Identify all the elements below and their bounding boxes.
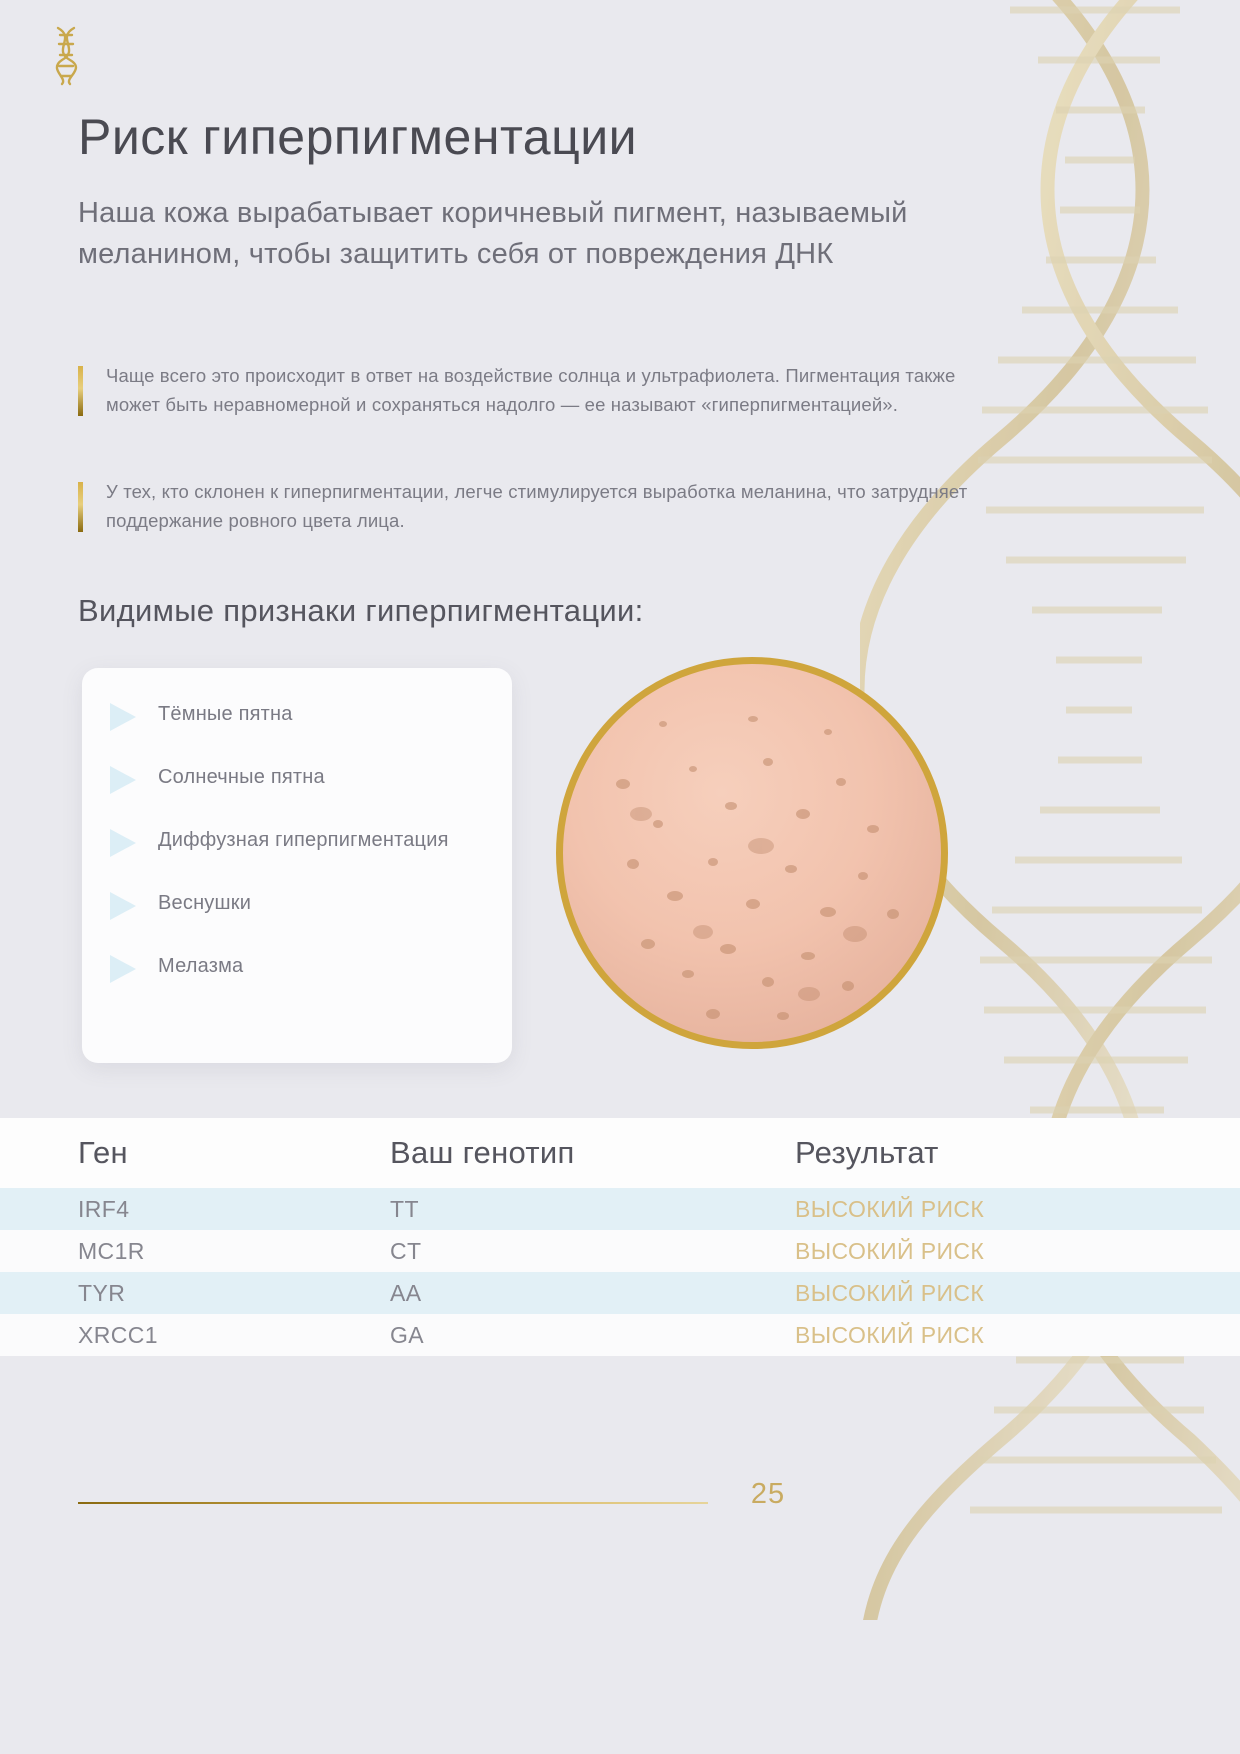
- list-item-label: Тёмные пятна: [158, 698, 293, 730]
- cell-genotype: CT: [390, 1238, 795, 1265]
- visible-signs-card: Тёмные пятна Солнечные пятна Диффузная г…: [82, 668, 512, 1063]
- cell-gene: MC1R: [78, 1238, 390, 1265]
- list-item: Солнечные пятна: [82, 761, 512, 794]
- triangle-right-icon: [110, 892, 136, 920]
- cell-gene: XRCC1: [78, 1322, 390, 1349]
- skin-closeup-photo: [556, 657, 948, 1049]
- list-item: Тёмные пятна: [82, 698, 512, 731]
- column-header-gene: Ген: [78, 1135, 390, 1171]
- page-title: Риск гиперпигментации: [78, 108, 637, 166]
- list-item-label: Веснушки: [158, 887, 251, 919]
- triangle-right-icon: [110, 703, 136, 731]
- cell-genotype: AA: [390, 1280, 795, 1307]
- cell-gene: IRF4: [78, 1196, 390, 1223]
- table-row: IRF4 TT ВЫСОКИЙ РИСК: [0, 1188, 1240, 1230]
- cell-genotype: TT: [390, 1196, 795, 1223]
- dna-helix-icon: [40, 24, 92, 86]
- column-header-genotype: Ваш генотип: [390, 1135, 795, 1171]
- callout-text: У тех, кто склонен к гиперпигментации, л…: [106, 478, 1006, 536]
- triangle-right-icon: [110, 829, 136, 857]
- table-row: XRCC1 GA ВЫСОКИЙ РИСК: [0, 1314, 1240, 1356]
- table-row: TYR AA ВЫСОКИЙ РИСК: [0, 1272, 1240, 1314]
- cell-gene: TYR: [78, 1280, 390, 1307]
- list-item: Мелазма: [82, 950, 512, 983]
- list-item: Диффузная гиперпигментация: [82, 824, 512, 857]
- callout-block: Чаще всего это происходит в ответ на воз…: [78, 362, 1006, 420]
- footer-divider: [78, 1502, 708, 1504]
- triangle-right-icon: [110, 766, 136, 794]
- page-subtitle: Наша кожа вырабатывает коричневый пигмен…: [78, 193, 978, 275]
- page-number: 25: [728, 1478, 808, 1511]
- list-item-label: Диффузная гиперпигментация: [158, 824, 449, 856]
- report-page: Риск гиперпигментации Наша кожа вырабаты…: [0, 0, 1240, 1754]
- cell-result: ВЫСОКИЙ РИСК: [795, 1238, 1240, 1265]
- table-header-row: Ген Ваш генотип Результат: [0, 1118, 1240, 1188]
- genetics-table: Ген Ваш генотип Результат IRF4 TT ВЫСОКИ…: [0, 1118, 1240, 1356]
- column-header-result: Результат: [795, 1135, 1240, 1171]
- table-row: MC1R CT ВЫСОКИЙ РИСК: [0, 1230, 1240, 1272]
- list-item: Веснушки: [82, 887, 512, 920]
- cell-result: ВЫСОКИЙ РИСК: [795, 1322, 1240, 1349]
- callout-text: Чаще всего это происходит в ответ на воз…: [106, 362, 1006, 420]
- cell-genotype: GA: [390, 1322, 795, 1349]
- list-item-label: Мелазма: [158, 950, 243, 982]
- cell-result: ВЫСОКИЙ РИСК: [795, 1196, 1240, 1223]
- section-heading: Видимые признаки гиперпигментации:: [78, 593, 644, 629]
- list-item-label: Солнечные пятна: [158, 761, 325, 793]
- callout-block: У тех, кто склонен к гиперпигментации, л…: [78, 478, 1006, 536]
- cell-result: ВЫСОКИЙ РИСК: [795, 1280, 1240, 1307]
- triangle-right-icon: [110, 955, 136, 983]
